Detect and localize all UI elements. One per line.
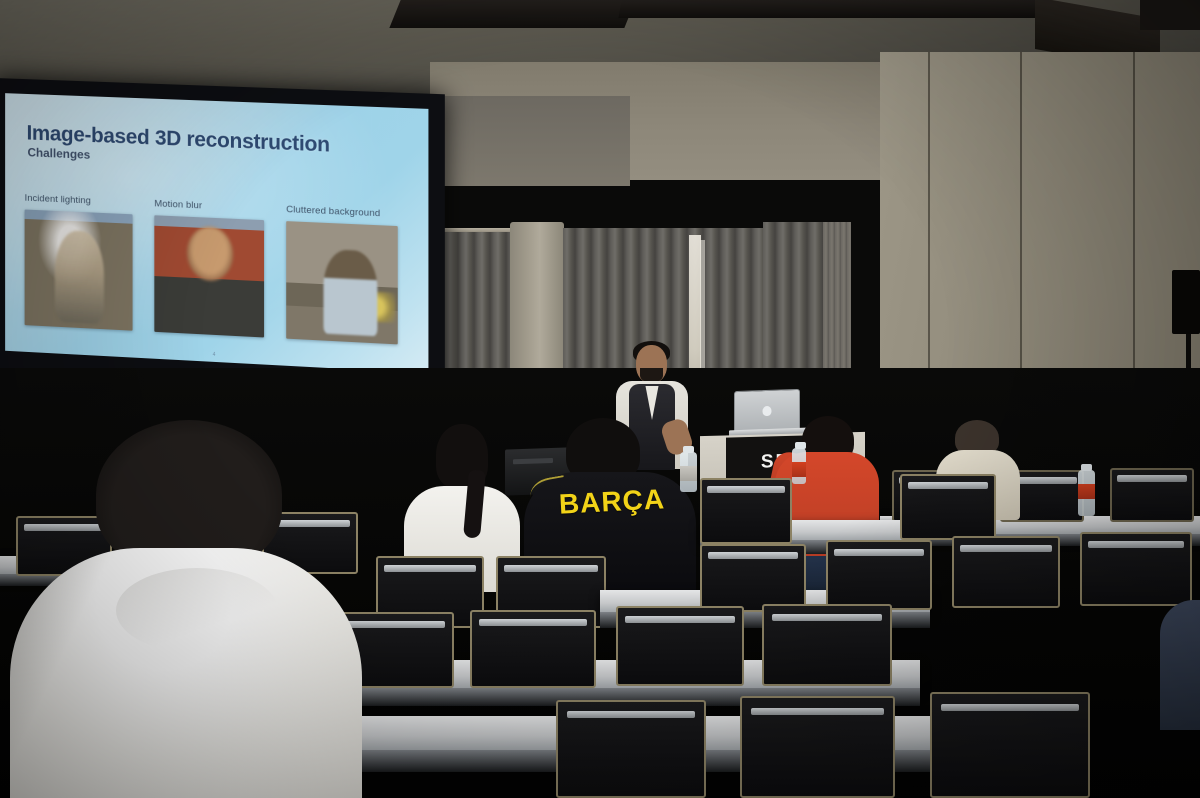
chair	[930, 692, 1090, 798]
slide-subtitle: Challenges	[28, 145, 91, 161]
chair	[952, 536, 1060, 608]
bottle-label	[792, 462, 806, 477]
thumbnail-caption: Motion blur	[154, 198, 264, 214]
slide-thumbnail: Incident lighting	[25, 193, 133, 331]
bottle-label	[680, 466, 697, 481]
projected-slide: Image-based 3D reconstruction Challenges…	[5, 93, 428, 373]
ceiling-beam	[618, 0, 1041, 18]
attendee-shirt	[10, 548, 362, 798]
chair	[900, 474, 996, 540]
chair	[700, 478, 792, 544]
apple-logo-icon	[763, 406, 772, 416]
chair	[1110, 468, 1194, 522]
upper-wall-left	[430, 96, 630, 186]
ceiling-beam	[389, 0, 635, 28]
thumbnail-image-cluttered-background	[286, 221, 398, 344]
chair	[826, 540, 932, 610]
water-bottle	[1078, 470, 1095, 516]
chair	[740, 696, 895, 798]
laptop-lid	[734, 389, 800, 433]
slide-thumbnail: Motion blur	[154, 198, 264, 337]
ceiling-beam	[1140, 0, 1200, 30]
chair	[616, 606, 744, 686]
thumbnail-image-incident-lighting	[25, 209, 133, 330]
water-bottle	[792, 448, 806, 484]
thumbnail-caption: Incident lighting	[25, 193, 133, 209]
presentation-room-photo: Image-based 3D reconstruction Challenges…	[0, 0, 1200, 798]
loudspeaker-icon	[1172, 270, 1200, 334]
slide-thumbnail-row: Incident lighting Motion blur Cluttered …	[25, 193, 414, 346]
thumbnail-caption: Cluttered background	[286, 204, 398, 220]
thumbnail-image-motion-blur	[154, 215, 264, 337]
attendee-partial-right	[1160, 600, 1200, 730]
water-bottle	[680, 452, 697, 492]
chair	[1080, 532, 1192, 606]
slide-thumbnail: Cluttered background	[286, 204, 398, 344]
bottle-label	[1078, 484, 1095, 499]
chair	[700, 544, 806, 612]
chair	[556, 700, 706, 798]
chair	[470, 610, 596, 688]
projection-screen: Image-based 3D reconstruction Challenges…	[0, 78, 445, 397]
slide-page-number: 4	[213, 352, 216, 358]
chair	[762, 604, 892, 686]
